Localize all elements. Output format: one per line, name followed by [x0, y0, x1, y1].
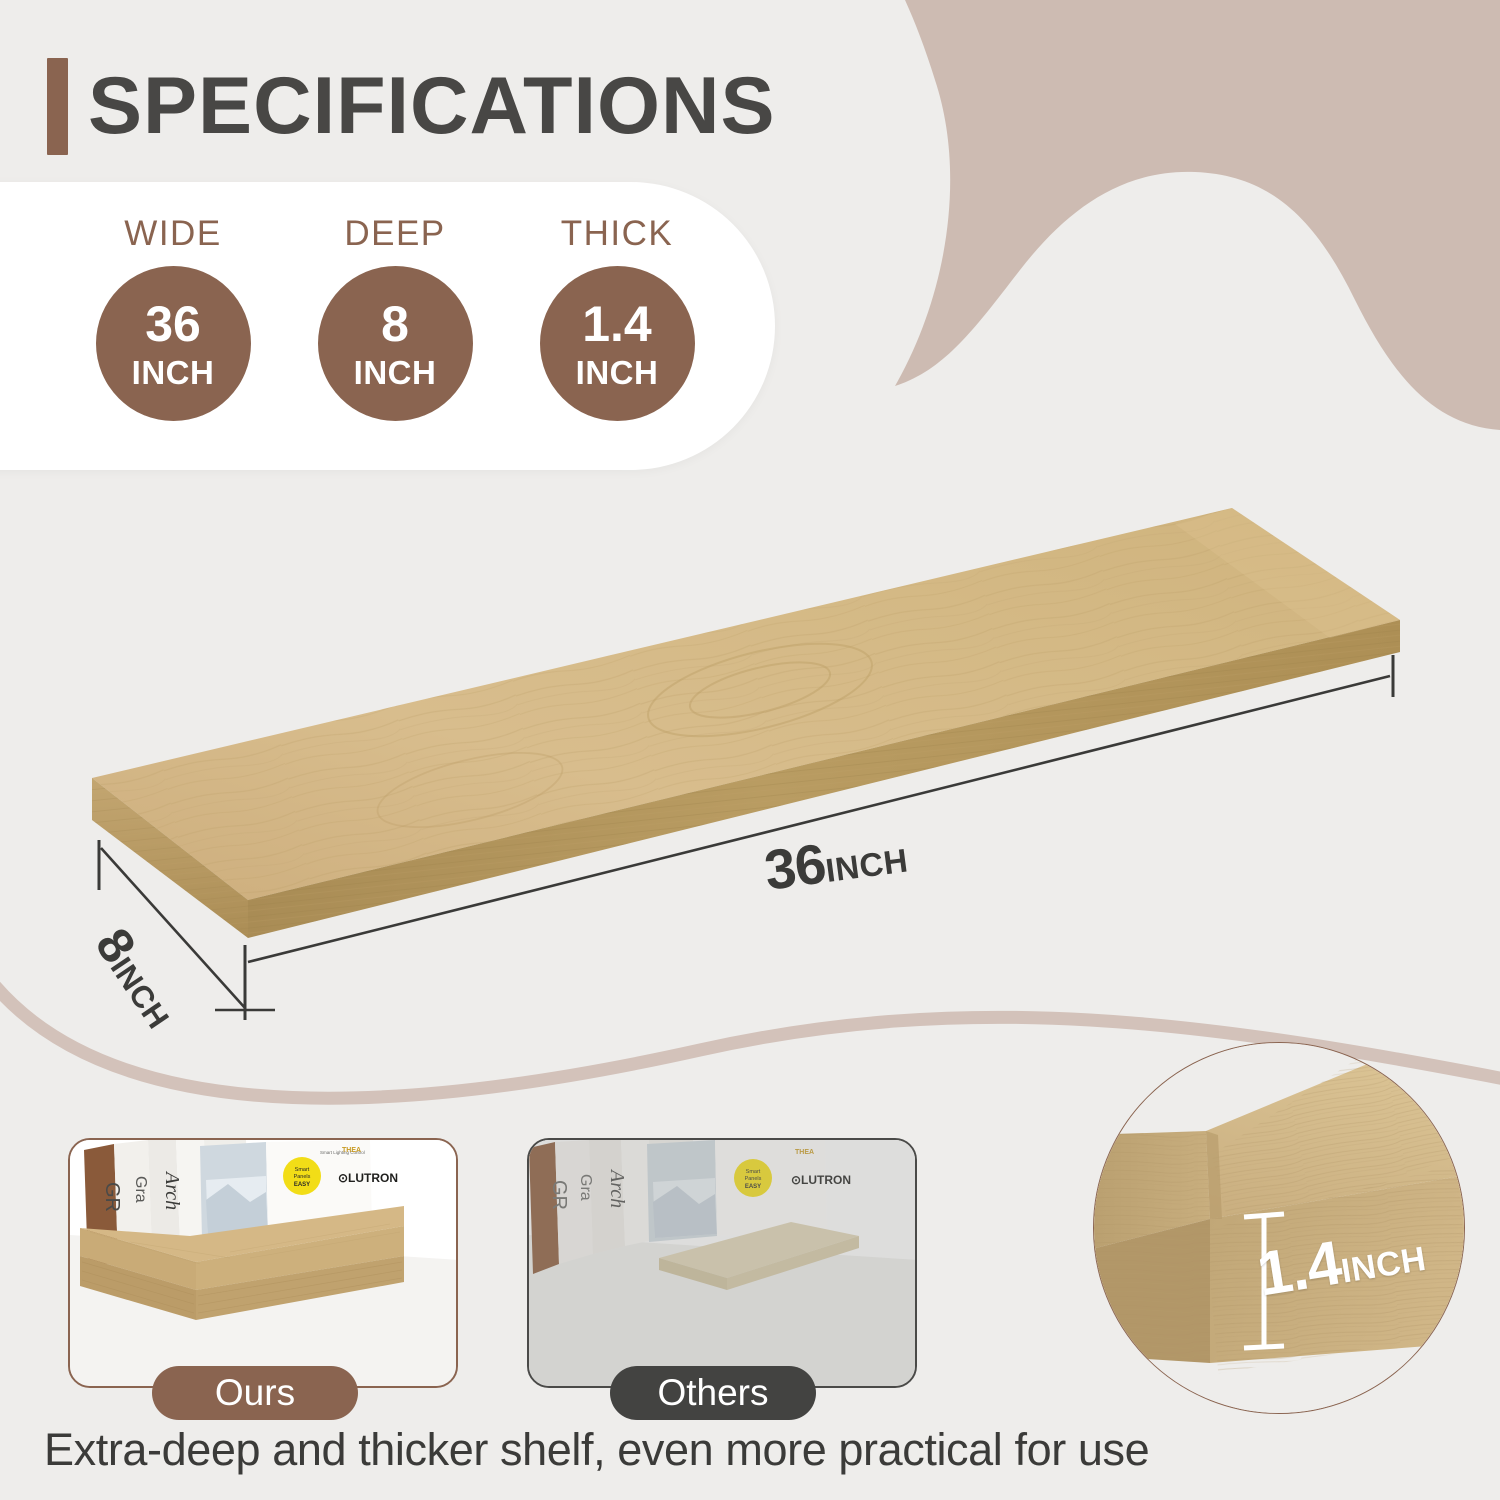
- thickness-dimension-unit: INCH: [1339, 1240, 1429, 1292]
- spec-value-wide: 36: [145, 299, 201, 349]
- width-dimension-value: 36: [761, 830, 829, 902]
- spec-badge-row: WIDE 36 INCH DEEP 8 INCH THICK 1.4 INCH: [95, 214, 695, 421]
- svg-text:⊙LUTRON: ⊙LUTRON: [338, 1171, 398, 1185]
- spec-item-thick: THICK 1.4 INCH: [539, 214, 695, 421]
- svg-text:Panels: Panels: [294, 1174, 311, 1180]
- svg-text:Gra: Gra: [132, 1176, 149, 1203]
- others-photo: GR Gra Arch Smart Panels EASY ⊙LUTRON TH…: [529, 1140, 917, 1388]
- spec-badge-thick: 1.4 INCH: [540, 266, 695, 421]
- spec-value-thick: 1.4: [582, 299, 652, 349]
- bottom-caption: Extra-deep and thicker shelf, even more …: [44, 1424, 1149, 1476]
- spec-badge-deep: 8 INCH: [318, 266, 473, 421]
- spec-unit-thick: INCH: [576, 356, 659, 389]
- others-label-pill: Others: [610, 1366, 816, 1420]
- svg-text:GR: GR: [101, 1182, 123, 1212]
- others-gray-overlay: [529, 1140, 917, 1388]
- spec-badge-wide: 36 INCH: [96, 266, 251, 421]
- svg-text:Arch: Arch: [161, 1170, 183, 1210]
- specifications-card: WIDE 36 INCH DEEP 8 INCH THICK 1.4 INCH: [0, 182, 775, 470]
- ours-photo: GR Gra Arch Smart Panels EASY ⊙LUTRON Sm…: [70, 1140, 458, 1388]
- spec-unit-deep: INCH: [354, 356, 437, 389]
- title-accent-bar: [47, 58, 68, 155]
- spec-label-deep: DEEP: [344, 214, 445, 254]
- shelf-top-grain: [92, 508, 1400, 900]
- ours-label-text: Ours: [215, 1372, 295, 1414]
- ours-label-pill: Ours: [152, 1366, 358, 1420]
- spec-label-thick: THICK: [561, 214, 674, 254]
- spec-item-wide: WIDE 36 INCH: [95, 214, 251, 421]
- others-label-text: Others: [657, 1372, 768, 1414]
- shelf-illustration: [0, 440, 1500, 1060]
- page-title: SPECIFICATIONS: [88, 58, 776, 155]
- comparison-panel-others: GR Gra Arch Smart Panels EASY ⊙LUTRON TH…: [527, 1138, 917, 1388]
- svg-text:EASY: EASY: [294, 1182, 310, 1188]
- svg-text:Smart: Smart: [295, 1167, 310, 1173]
- spec-label-wide: WIDE: [124, 214, 221, 254]
- width-dimension-unit: INCH: [823, 841, 910, 889]
- svg-text:THEA: THEA: [342, 1147, 361, 1154]
- spec-value-deep: 8: [381, 299, 409, 349]
- comparison-panel-ours: GR Gra Arch Smart Panels EASY ⊙LUTRON Sm…: [68, 1138, 458, 1388]
- spec-unit-wide: INCH: [132, 356, 215, 389]
- infographic-stage: SPECIFICATIONS WIDE 36 INCH DEEP 8 INCH …: [0, 0, 1500, 1500]
- thickness-dimension-value: 1.4: [1252, 1227, 1345, 1310]
- spec-item-deep: DEEP 8 INCH: [317, 214, 473, 421]
